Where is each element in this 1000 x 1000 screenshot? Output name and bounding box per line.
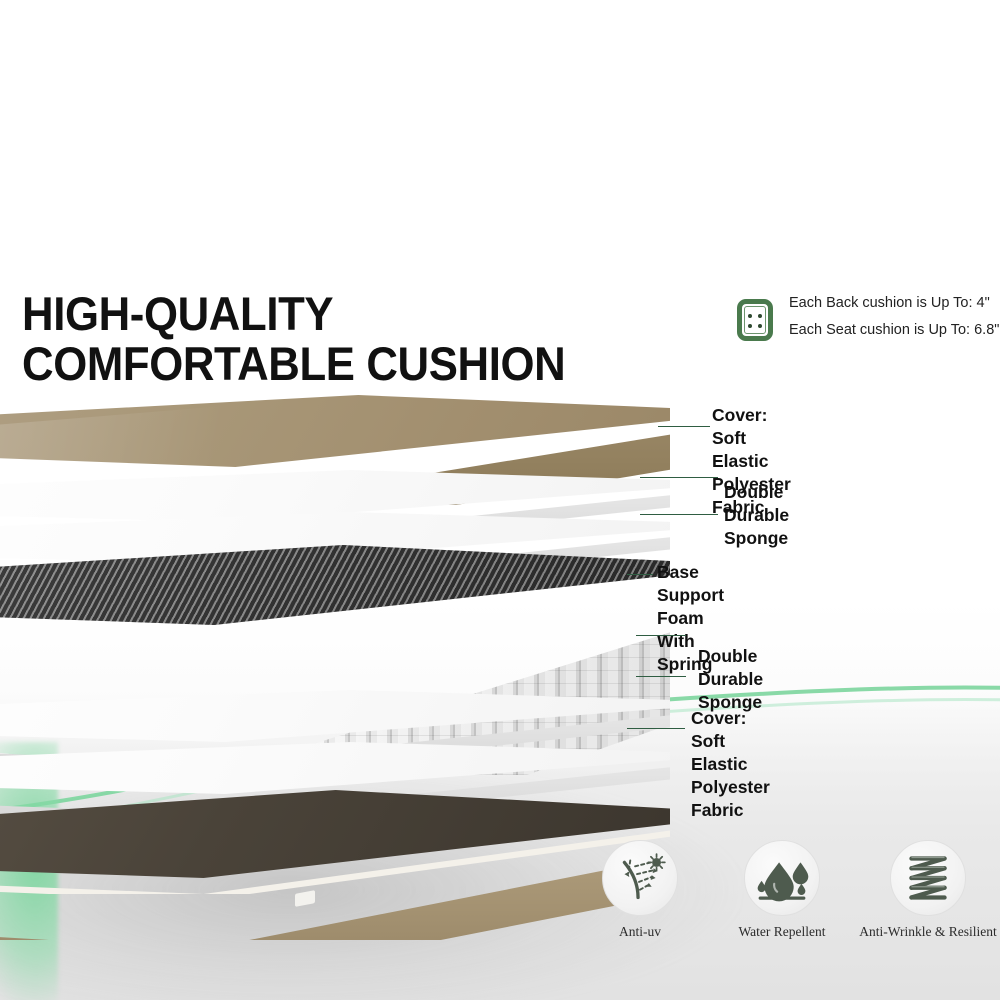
infographic-canvas: HIGH-QUALITY COMFORTABLE CUSHION Each Ba… xyxy=(0,0,1000,1000)
headline-line-2: COMFORTABLE CUSHION xyxy=(22,339,565,389)
leader-line-sponge-upper-a xyxy=(640,477,718,478)
anti-uv-badge xyxy=(602,840,678,916)
cushion-spec-block: Each Back cushion is Up To: 4" Each Seat… xyxy=(733,288,995,344)
spec-back-cushion: Each Back cushion is Up To: 4" xyxy=(789,290,999,317)
feature-badges: Anti-uv Water Repellent xyxy=(592,840,1000,960)
spec-seat-cushion: Each Seat cushion is Up To: 6.8" xyxy=(789,317,999,344)
water-repellent-badge xyxy=(744,840,820,916)
cushion-icon xyxy=(733,297,777,343)
feature-label-anti-wrinkle: Anti-Wrinkle & Resilient xyxy=(834,924,1000,940)
callout-label-cover-bottom: Cover: Soft Elastic Polyester Fabric xyxy=(691,707,770,822)
callout-label-sponge-lower: Double Durable Sponge xyxy=(698,645,763,714)
coil-spring-icon xyxy=(891,841,965,915)
feature-water-repellent: Water Repellent xyxy=(734,840,830,940)
layer-bottom-cover xyxy=(0,790,670,940)
feature-anti-wrinkle: Anti-Wrinkle & Resilient xyxy=(880,840,976,940)
headline-line-1: HIGH-QUALITY xyxy=(22,287,333,340)
leader-line-base-spring xyxy=(627,574,653,575)
water-drop-icon xyxy=(745,841,819,915)
product-label-tag xyxy=(295,890,315,907)
anti-wrinkle-badge xyxy=(890,840,966,916)
leader-line-sponge-upper-b xyxy=(640,514,718,515)
anti-uv-icon xyxy=(603,841,677,915)
leader-line-sponge-lower-b xyxy=(636,676,686,677)
feature-anti-uv: Anti-uv xyxy=(592,840,688,940)
callout-label-sponge-upper: Double Durable Sponge xyxy=(724,481,789,550)
feature-label-water-repellent: Water Repellent xyxy=(734,924,830,940)
spring-mesh-top xyxy=(0,545,670,625)
leader-line-cover-bottom xyxy=(627,728,685,729)
bottom-cover-top-face xyxy=(0,790,670,878)
leader-line-cover-top xyxy=(658,426,710,427)
leader-line-sponge-lower-a xyxy=(636,635,686,636)
feature-label-anti-uv: Anti-uv xyxy=(592,924,688,940)
page-title: HIGH-QUALITY COMFORTABLE CUSHION xyxy=(22,239,565,438)
